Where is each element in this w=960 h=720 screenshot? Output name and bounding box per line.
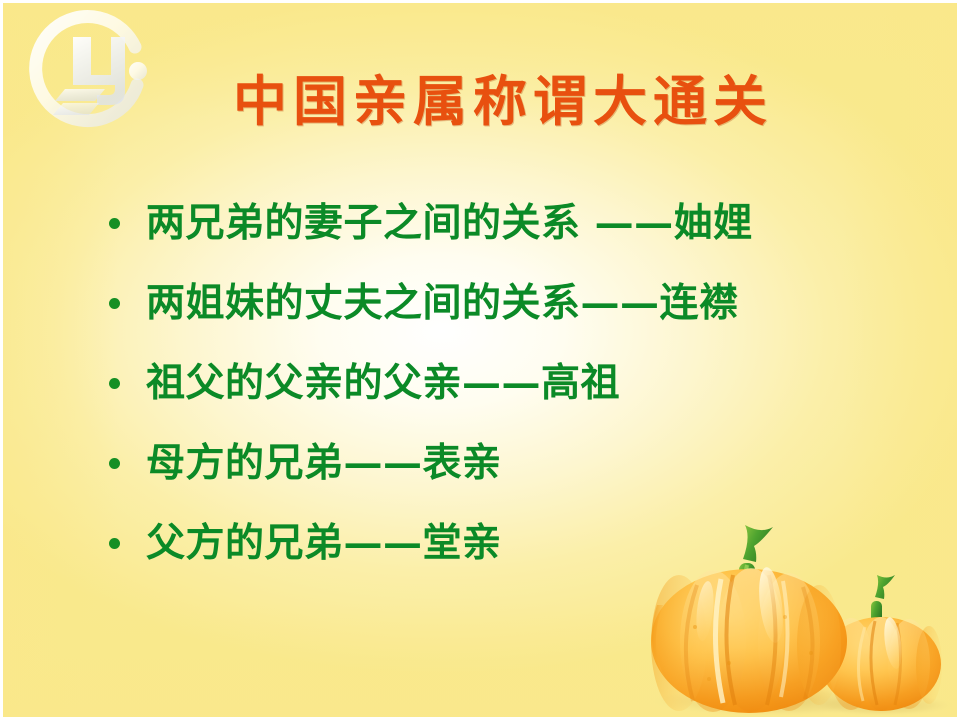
brand-logo bbox=[25, 9, 157, 135]
list-item-label: 两兄弟的妻子之间的关系 ——妯娌 bbox=[146, 204, 753, 243]
bullet-dot-icon bbox=[109, 378, 120, 389]
list-item: 母方的兄弟——表亲 bbox=[109, 423, 909, 503]
bullet-dot-icon bbox=[109, 218, 120, 229]
list-item-label: 两姐妹的丈夫之间的关系——连襟 bbox=[146, 284, 739, 323]
pumpkins-illustration bbox=[643, 501, 960, 720]
list-item: 两姐妹的丈夫之间的关系——连襟 bbox=[109, 263, 909, 343]
list-item-label: 父方的兄弟——堂亲 bbox=[146, 524, 502, 563]
page-title: 中国亲属称谓大通关 bbox=[178, 55, 828, 147]
bullet-dot-icon bbox=[109, 298, 120, 309]
bullet-dot-icon bbox=[109, 538, 120, 549]
list-item: 两兄弟的妻子之间的关系 ——妯娌 bbox=[109, 183, 909, 263]
bullet-dot-icon bbox=[109, 458, 120, 469]
list-item-label: 祖父的父亲的父亲——高祖 bbox=[146, 364, 620, 403]
list-item-label: 母方的兄弟——表亲 bbox=[146, 444, 502, 483]
slide: 中国亲属称谓大通关 两兄弟的妻子之间的关系 ——妯娌 两姐妹的丈夫之间的关系——… bbox=[0, 0, 960, 720]
list-item: 祖父的父亲的父亲——高祖 bbox=[109, 343, 909, 423]
